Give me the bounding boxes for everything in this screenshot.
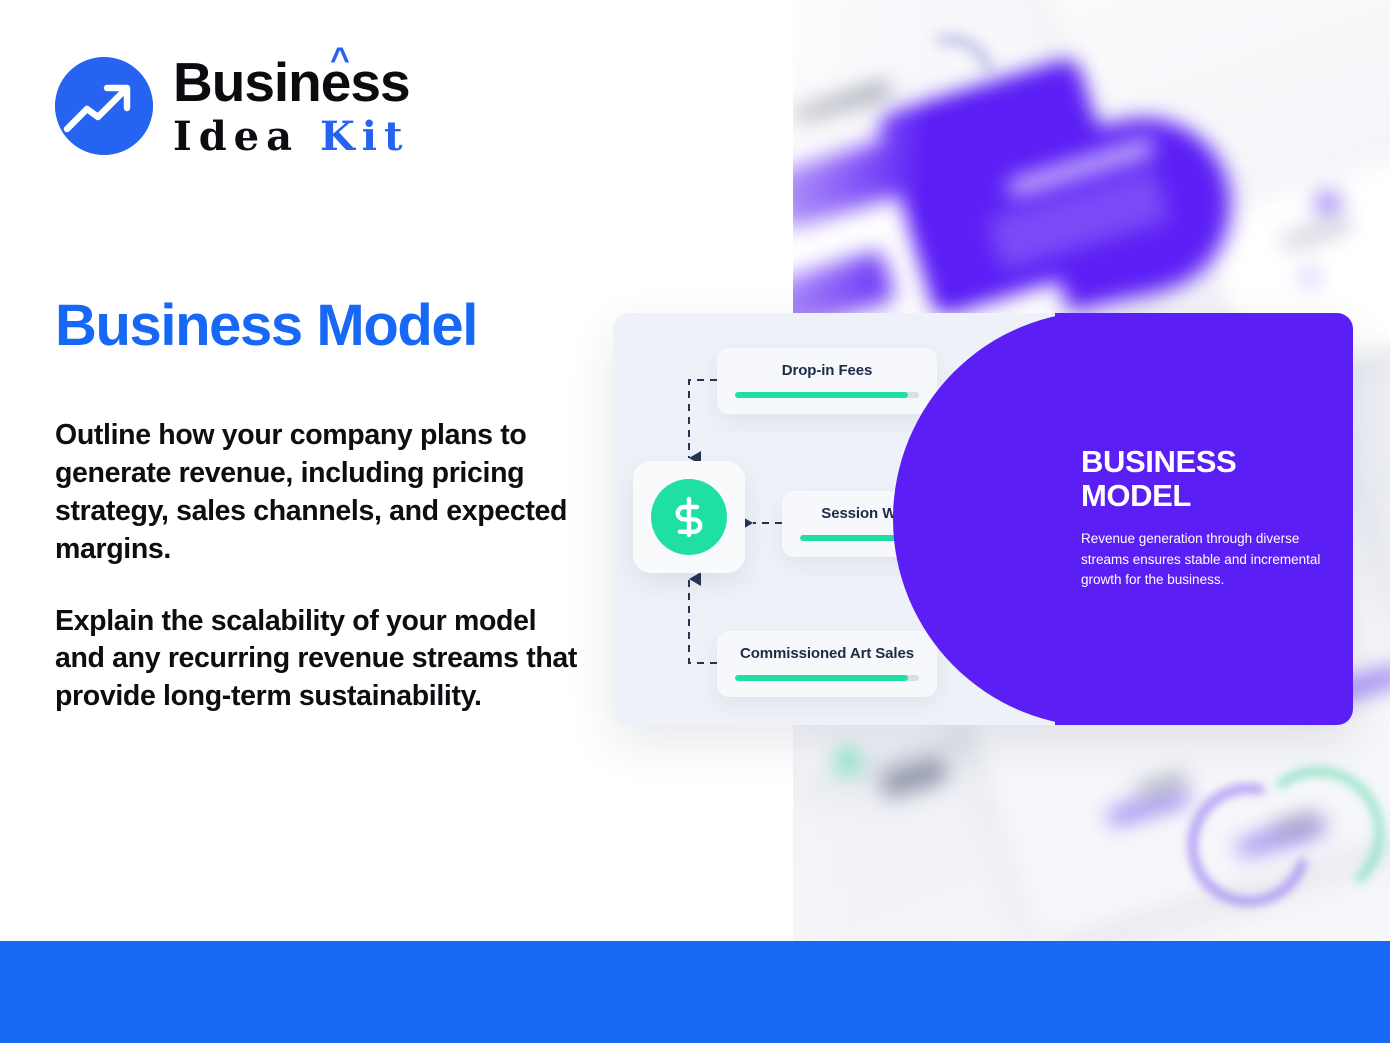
revenue-node-progress [735, 675, 919, 681]
bg-shape-dot [1303, 270, 1317, 284]
revenue-node-label: Commissioned Art Sales [740, 645, 914, 662]
revenue-hub [633, 461, 745, 573]
body-copy: Outline how your company plans to genera… [55, 417, 585, 716]
brand-name-idea: Idea [173, 113, 299, 160]
chart-trend-arrow-icon [55, 57, 153, 155]
brand-name-kit: Kit [320, 113, 409, 160]
body-paragraph-2: Explain the scalability of your model an… [55, 603, 585, 717]
visual-card: Drop-in Fees Session Workshops Commissio… [613, 313, 1353, 725]
brand-name-top-text: Business [173, 51, 410, 113]
summary-panel-description: Revenue generation through diverse strea… [1081, 529, 1329, 591]
footer-band [0, 941, 1390, 1043]
summary-panel-content: BUSINESS MODEL Revenue generation throug… [1081, 445, 1329, 591]
bg-shape-bar [879, 756, 948, 799]
bg-shape-dot [836, 750, 858, 772]
brand-logo[interactable]: Business ^ Idea Kit [55, 55, 410, 157]
revenue-node[interactable]: Drop-in Fees [717, 348, 937, 414]
brand-name-top: Business ^ [173, 55, 410, 110]
slide-canvas: Business ^ Idea Kit Business Model Outli… [0, 0, 1390, 1043]
brand-wordmark: Business ^ Idea Kit [173, 55, 410, 157]
summary-panel-title: BUSINESS MODEL [1081, 445, 1329, 513]
page-title: Business Model [55, 296, 477, 357]
revenue-node-label: Drop-in Fees [782, 362, 872, 379]
brand-name-bottom: Idea Kit [173, 117, 410, 157]
body-paragraph-1: Outline how your company plans to genera… [55, 417, 585, 569]
bg-shape-dot [1316, 192, 1340, 216]
revenue-node-progress [735, 392, 919, 398]
revenue-node[interactable]: Commissioned Art Sales [717, 631, 937, 697]
brand-caret-accent: ^ [330, 43, 349, 77]
dollar-sign-icon [651, 479, 727, 555]
